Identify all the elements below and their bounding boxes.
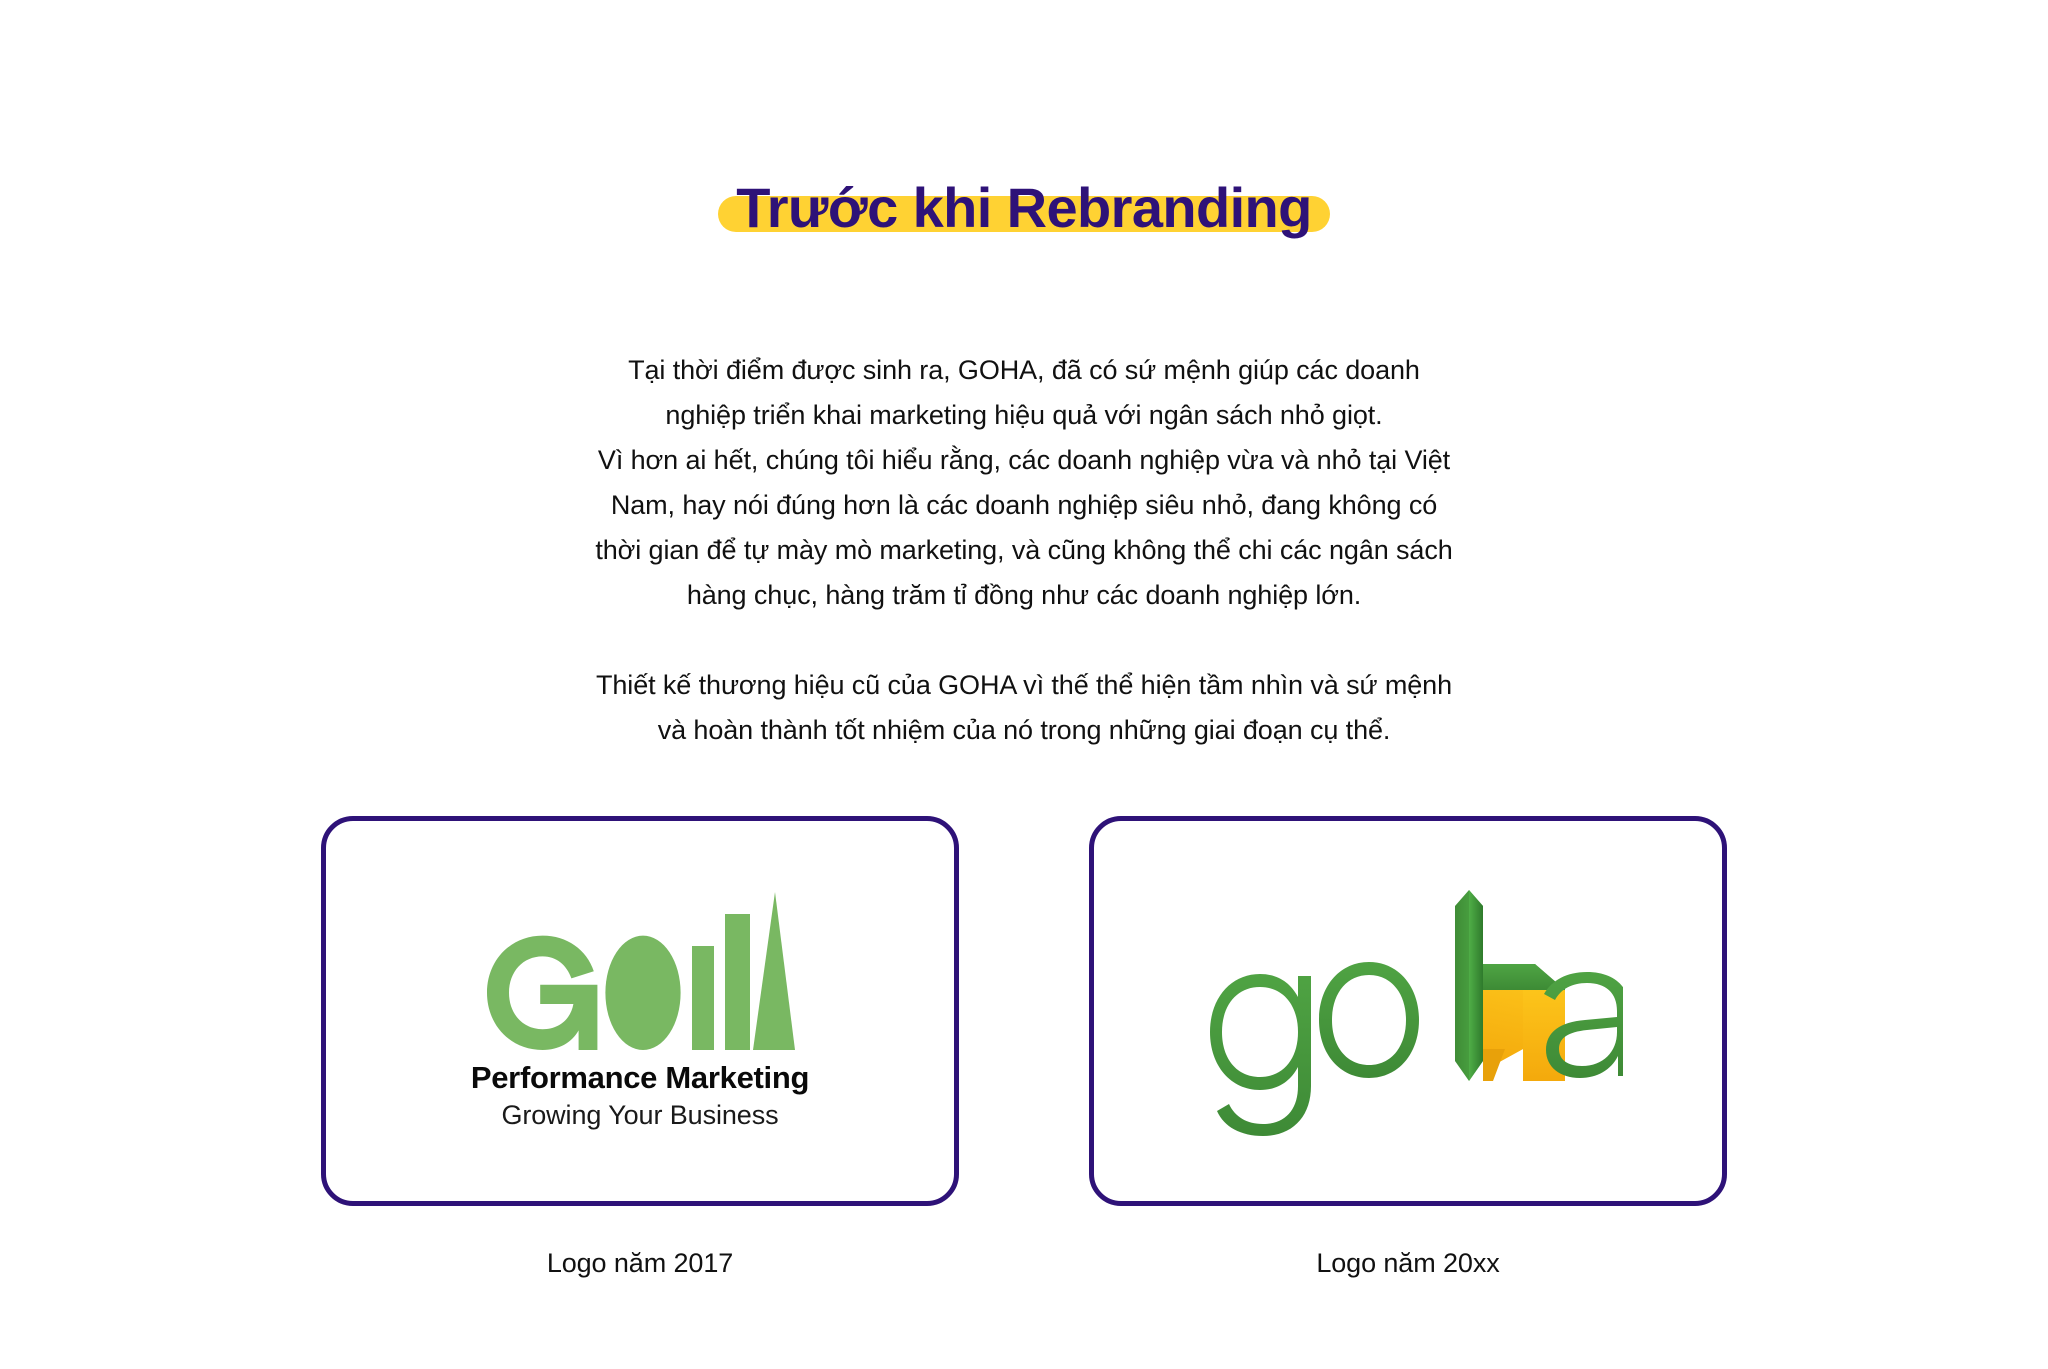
paragraph-1: Tại thời điểm được sinh ra, GOHA, đã có … [584,348,1464,618]
goha-2017-logo-mark-icon [485,892,795,1050]
page-title-inner: Trước khi Rebranding [718,178,1330,238]
old-logo: Performance Marketing Growing Your Busin… [471,892,809,1131]
logo-card-row: Performance Marketing Growing Your Busin… [0,816,2048,1279]
paragraph-line: Thiết kế thương hiệu cũ của GOHA vì thế … [584,663,1464,708]
body-copy: Tại thời điểm được sinh ra, GOHA, đã có … [584,348,1464,753]
paragraph-line: và hoàn thành tốt nhiệm của nó trong nhữ… [584,708,1464,753]
old-logo-tagline-primary: Performance Marketing [471,1060,809,1096]
logo-card-20xx-caption: Logo năm 20xx [1316,1248,1499,1279]
paragraph-line: Tại thời điểm được sinh ra, GOHA, đã có … [584,348,1464,393]
logo-card-2017-column: Performance Marketing Growing Your Busin… [316,816,964,1279]
page-title-text: Trước khi Rebranding [736,176,1312,239]
page-title: Trước khi Rebranding [0,178,2048,238]
old-logo-tagline-secondary: Growing Your Business [501,1100,778,1131]
logo-card-20xx[interactable] [1089,816,1727,1206]
paragraph-line: thời gian để tự mày mò marketing, và cũn… [584,528,1464,573]
slide-canvas: Trước khi Rebranding Tại thời điểm được … [0,0,2048,1369]
paragraph-line: Nam, hay nói đúng hơn là các doanh nghiệ… [584,483,1464,528]
paragraph-2: Thiết kế thương hiệu cũ của GOHA vì thế … [584,663,1464,753]
paragraph-line: Vì hơn ai hết, chúng tôi hiểu rằng, các … [584,438,1464,483]
logo-card-2017-caption: Logo năm 2017 [547,1248,733,1279]
paragraph-line: nghiệp triển khai marketing hiệu quả với… [584,393,1464,438]
goha-new-logo-mark-icon [1193,886,1623,1136]
logo-card-20xx-column: Logo năm 20xx [1084,816,1732,1279]
paragraph-line: hàng chục, hàng trăm tỉ đồng như các doa… [584,573,1464,618]
logo-card-2017[interactable]: Performance Marketing Growing Your Busin… [321,816,959,1206]
